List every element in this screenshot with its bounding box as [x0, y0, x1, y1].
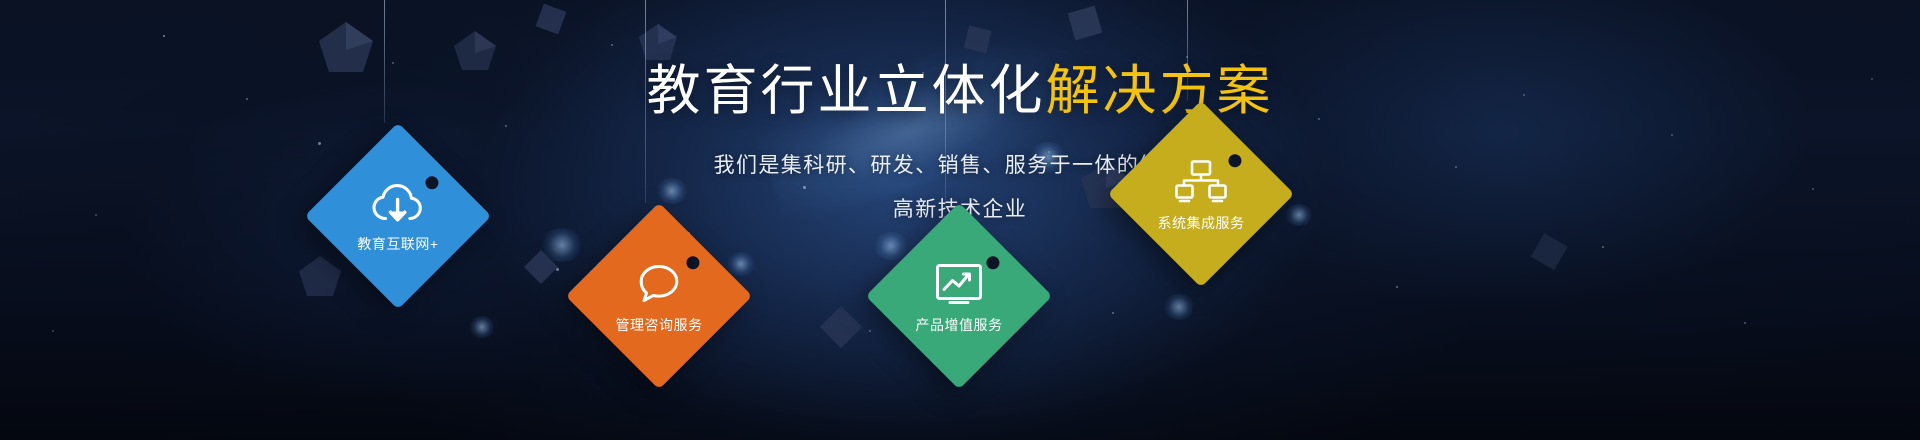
cloud-download-icon	[370, 182, 426, 231]
badge-management-consulting[interactable]: 管理咨询服务	[566, 203, 752, 389]
subtitle-line-1: 我们是集科研、研发、销售、服务于一体的综合性	[0, 144, 1920, 188]
speech-bubble-icon	[636, 261, 682, 312]
badge-education-internet[interactable]: 教育互联网+	[305, 123, 491, 309]
badge-label: 系统集成服务	[1158, 216, 1245, 230]
badge-system-integration[interactable]: 系统集成服务	[1108, 101, 1294, 287]
page-title: 教育行业立体化解决方案	[0, 62, 1920, 120]
badge-label: 管理咨询服务	[616, 318, 703, 332]
network-devices-icon	[1174, 159, 1228, 210]
hero-text-block: 教育行业立体化解决方案 我们是集科研、研发、销售、服务于一体的综合性 高新技术企…	[0, 0, 1920, 232]
decor-polygon	[524, 250, 558, 284]
decor-polygon	[1530, 232, 1570, 272]
hero-banner: 教育行业立体化解决方案 我们是集科研、研发、销售、服务于一体的综合性 高新技术企…	[0, 0, 1920, 440]
headline-plain: 教育行业立体化	[647, 61, 1046, 121]
decor-polygon	[820, 306, 864, 350]
chart-report-icon	[933, 261, 985, 312]
badge-product-value-service[interactable]: 产品增值服务	[866, 203, 1052, 389]
badge-label: 产品增值服务	[916, 318, 1003, 332]
badge-label: 教育互联网+	[357, 237, 438, 251]
